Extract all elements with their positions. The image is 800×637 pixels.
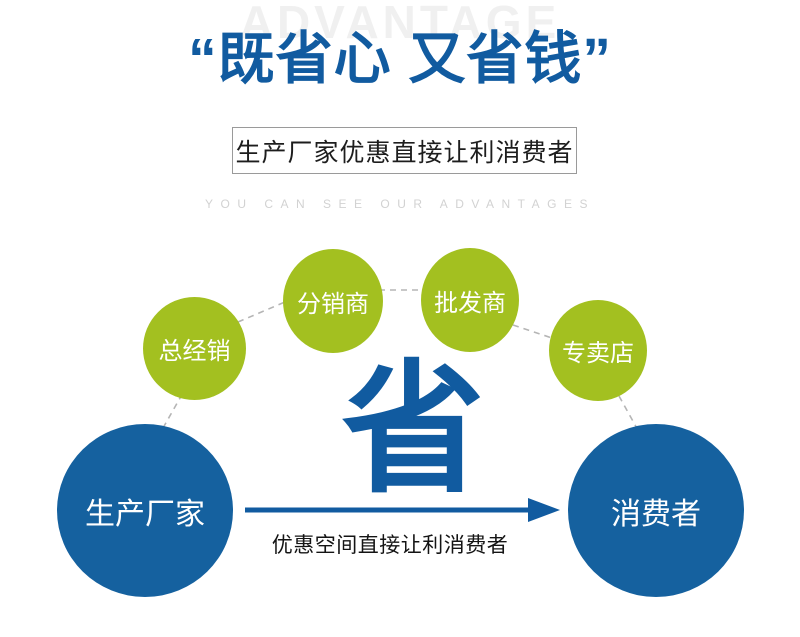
node-zhuanmaidian[interactable]: 专卖店 xyxy=(549,300,647,401)
advantage-infographic: ADVANTAGE “既省心 又省钱” 生产厂家优惠直接让利消费者 YOU CA… xyxy=(0,0,800,637)
node-xiaofeizhe[interactable]: 消费者 xyxy=(568,424,744,597)
node-xiaofeizhe-label: 消费者 xyxy=(611,489,701,533)
node-zhuanmaidian-label: 专卖店 xyxy=(562,333,634,368)
node-shengchan-changjia[interactable]: 生产厂家 xyxy=(57,424,233,597)
node-zongjingxiao[interactable]: 总经销 xyxy=(143,297,246,400)
node-pifashang-label: 批发商 xyxy=(434,283,506,318)
arrow-caption: 优惠空间直接让利消费者 xyxy=(235,529,545,559)
node-fenxiaoshang[interactable]: 分销商 xyxy=(283,249,383,353)
node-fenxiaoshang-label: 分销商 xyxy=(297,284,369,319)
big-sheng-character: 省 xyxy=(333,359,493,502)
node-zongjingxiao-label: 总经销 xyxy=(159,331,231,366)
node-pifashang[interactable]: 批发商 xyxy=(421,248,519,352)
node-shengchan-changjia-label: 生产厂家 xyxy=(85,489,205,533)
distribution-chain-diagram: 总经销 分销商 批发商 专卖店 生产厂家 消费者 省 优惠空间直接让利消费者 xyxy=(0,0,800,637)
